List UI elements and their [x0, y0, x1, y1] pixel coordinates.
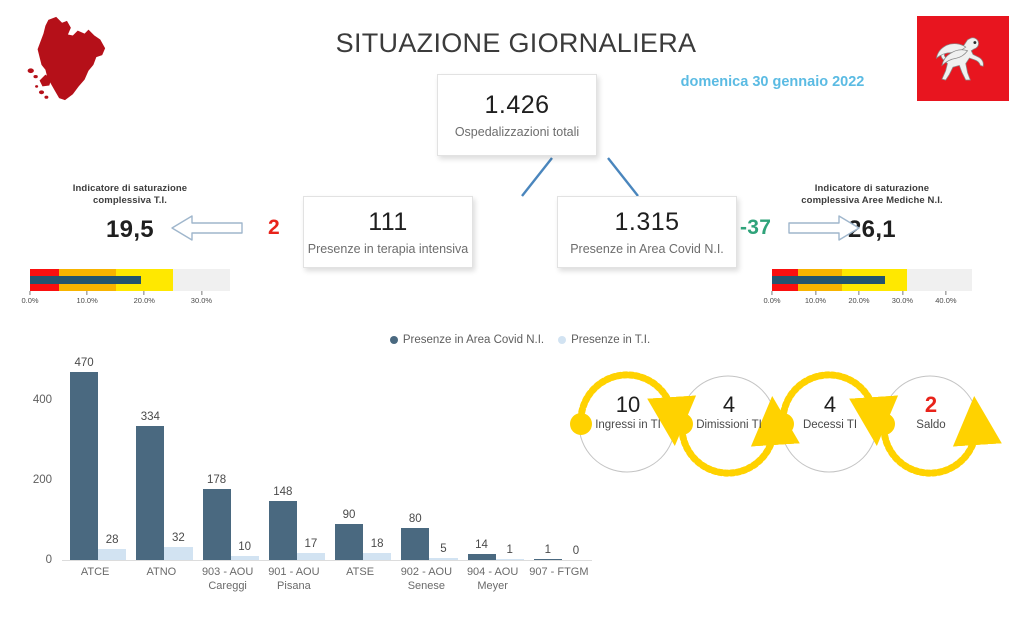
legend-label: Presenze in Area Covid N.I. — [403, 334, 544, 346]
chart-x-axis-line — [62, 560, 592, 561]
bar-group-4[interactable]: 9018 — [335, 524, 391, 560]
gauge-tick-label: 0.0% — [21, 296, 38, 305]
bar-6-series-1[interactable]: 1 — [496, 559, 524, 561]
bar-value-label: 0 — [573, 545, 579, 557]
chart-legend: Presenze in Area Covid N.I.Presenze in T… — [340, 334, 700, 346]
gauge-icu-bands — [30, 269, 230, 291]
bar-value-label: 470 — [74, 357, 93, 369]
legend-label: Presenze in T.I. — [571, 334, 650, 346]
bar-value-label: 18 — [371, 538, 384, 550]
y-axis-tick-2: 400 — [33, 394, 52, 406]
bar-group-5[interactable]: 805 — [401, 528, 457, 560]
gauge-tick-mark — [858, 291, 859, 295]
x-axis-label-7: 907 - FTGM — [526, 566, 592, 580]
kpi-icu-label: Presenze in terapia intensiva — [308, 242, 469, 256]
bar-4-series-0[interactable]: 90 — [335, 524, 363, 560]
bar-2-series-0[interactable]: 178 — [203, 489, 231, 560]
gauge-tick-0: 0.0% — [21, 291, 38, 305]
gauge-tick-label: 30.0% — [892, 296, 913, 305]
flow-step-0-value: 10 — [576, 392, 680, 418]
legend-swatch-icon — [390, 336, 398, 344]
kpi-card-ward-presences[interactable]: 1.315 Presenze in Area Covid N.I. — [557, 196, 737, 268]
gauge-tick-label: 10.0% — [805, 296, 826, 305]
bar-group-3[interactable]: 14817 — [269, 501, 325, 560]
kpi-ward-value: 1.315 — [614, 208, 679, 237]
bar-1-series-1[interactable]: 32 — [164, 547, 192, 560]
gauge-tick-1: 10.0% — [77, 291, 98, 305]
x-axis-label-2: 903 - AOUCareggi — [195, 566, 261, 594]
gauge-tick-mark — [902, 291, 903, 295]
bar-value-label: 178 — [207, 474, 226, 486]
gauge-tick-4: 40.0% — [935, 291, 956, 305]
gauge-tick-label: 40.0% — [935, 296, 956, 305]
gauge-tick-mark — [945, 291, 946, 295]
flow-step-1: 4 Dimissioni TI — [677, 392, 781, 431]
tuscany-pegasus-emblem-icon — [917, 16, 1009, 101]
flow-step-3-label: Saldo — [879, 419, 983, 431]
bar-group-6[interactable]: 141 — [468, 554, 524, 560]
bar-group-0[interactable]: 47028 — [70, 372, 126, 560]
gauge-ward-ticks: 0.0%10.0%20.0%30.0%40.0% — [772, 291, 972, 307]
delta-indicator-ward: -37 — [740, 208, 870, 248]
bar-value-label: 32 — [172, 532, 185, 544]
bar-value-label: 80 — [409, 513, 422, 525]
bar-5-series-1[interactable]: 5 — [429, 558, 457, 560]
bar-5-series-0[interactable]: 80 — [401, 528, 429, 560]
arrow-left-icon — [168, 212, 246, 244]
delta-indicator-icu: 2 — [168, 208, 298, 248]
bar-value-label: 1 — [545, 544, 551, 556]
bar-value-label: 5 — [440, 543, 446, 555]
gauge-tick-mark — [201, 291, 202, 295]
flow-step-3-value: 2 — [879, 392, 983, 418]
gauge-tick-3: 30.0% — [191, 291, 212, 305]
gauge-ward-pointer — [772, 276, 885, 284]
bar-0-series-0[interactable]: 470 — [70, 372, 98, 560]
kpi-total-label: Ospedalizzazioni totali — [455, 125, 579, 139]
flow-step-2-value: 4 — [778, 392, 882, 418]
bar-value-label: 1 — [506, 544, 512, 556]
delta-icu-value: 2 — [268, 216, 280, 240]
gauge-tick-mark — [29, 291, 30, 295]
gauge-tick-mark — [771, 291, 772, 295]
gauge-tick-1: 10.0% — [805, 291, 826, 305]
y-axis-tick-0: 0 — [46, 554, 52, 566]
bar-value-label: 334 — [141, 411, 160, 423]
arrow-right-icon — [785, 212, 863, 244]
x-axis-label-4: ATSE — [327, 566, 393, 580]
bar-chart: 0200400 47028ATCE33432ATNO17810903 - AOU… — [14, 360, 594, 610]
kpi-card-total-hospitalizations[interactable]: 1.426 Ospedalizzazioni totali — [437, 74, 597, 156]
chart-plot-area: 47028ATCE33432ATNO17810903 - AOUCareggi1… — [62, 360, 592, 560]
page-title: SITUAZIONE GIORNALIERA — [300, 28, 732, 59]
bar-group-1[interactable]: 33432 — [136, 426, 192, 560]
gauge-tick-label: 20.0% — [134, 296, 155, 305]
x-axis-label-1: ATNO — [128, 566, 194, 580]
flow-step-2: 4 Decessi TI — [778, 392, 882, 431]
bar-7-series-0[interactable]: 1 — [534, 559, 562, 561]
kpi-total-value: 1.426 — [484, 91, 549, 120]
gauge-icu-ticks: 0.0%10.0%20.0%30.0% — [30, 291, 230, 307]
gauge-tick-2: 20.0% — [848, 291, 869, 305]
dashboard-root: SITUAZIONE GIORNALIERA domenica 30 genna… — [0, 0, 1032, 634]
bar-value-label: 17 — [305, 538, 318, 550]
bar-value-label: 90 — [343, 509, 356, 521]
bar-3-series-0[interactable]: 148 — [269, 501, 297, 560]
gauge-icu-pointer — [30, 276, 141, 284]
x-axis-label-6: 904 - AOU Meyer — [460, 566, 526, 594]
gauge-ward-bar: 0.0%10.0%20.0%30.0%40.0% — [760, 269, 984, 309]
kpi-ward-label: Presenze in Area Covid N.I. — [570, 242, 724, 256]
bar-2-series-1[interactable]: 10 — [231, 556, 259, 560]
gauge-band-0 — [907, 269, 972, 291]
bar-value-label: 148 — [273, 486, 292, 498]
gauge-icu-caption: Indicatore di saturazione complessiva T.… — [18, 183, 242, 207]
gauge-tick-label: 30.0% — [191, 296, 212, 305]
gauge-tick-mark — [144, 291, 145, 295]
delta-ward-value: -37 — [740, 216, 771, 240]
tuscany-region-map-icon — [16, 14, 114, 106]
gauge-tick-mark — [815, 291, 816, 295]
x-axis-label-5: 902 - AOU Senese — [393, 566, 459, 594]
bar-4-series-1[interactable]: 18 — [363, 553, 391, 560]
y-axis-tick-1: 200 — [33, 474, 52, 486]
bar-1-series-0[interactable]: 334 — [136, 426, 164, 560]
chart-y-axis: 0200400 — [14, 360, 58, 560]
x-axis-label-0: ATCE — [62, 566, 128, 580]
flow-step-2-label: Decessi TI — [778, 419, 882, 431]
bar-value-label: 14 — [475, 539, 488, 551]
gauge-ward-bands — [772, 269, 972, 291]
kpi-card-icu-presences[interactable]: 111 Presenze in terapia intensiva — [303, 196, 473, 268]
gauge-icu-bar: 0.0%10.0%20.0%30.0% — [18, 269, 242, 309]
legend-swatch-icon — [558, 336, 566, 344]
bar-value-label: 28 — [106, 534, 119, 546]
gauge-ward-caption: Indicatore di saturazione complessiva Ar… — [760, 183, 984, 207]
x-axis-label-3: 901 - AOU Pisana — [261, 566, 327, 594]
legend-item-1[interactable]: Presenze in T.I. — [558, 334, 650, 346]
icu-flow-diagram: 10 Ingressi in TI 4 Dimissioni TI 4 Dece… — [565, 358, 1020, 490]
report-date: domenica 30 gennaio 2022 — [660, 74, 885, 90]
flow-step-1-label: Dimissioni TI — [677, 419, 781, 431]
flow-step-1-value: 4 — [677, 392, 781, 418]
kpi-icu-value: 111 — [368, 208, 408, 237]
flow-step-3: 2 Saldo — [879, 392, 983, 431]
bar-group-2[interactable]: 17810 — [203, 489, 259, 560]
gauge-tick-mark — [87, 291, 88, 295]
flow-step-0-label: Ingressi in TI — [576, 419, 680, 431]
gauge-tick-label: 20.0% — [848, 296, 869, 305]
bar-0-series-1[interactable]: 28 — [98, 549, 126, 560]
bar-value-label: 10 — [238, 541, 251, 553]
bar-6-series-0[interactable]: 14 — [468, 554, 496, 560]
flow-step-0: 10 Ingressi in TI — [576, 392, 680, 431]
gauge-band-0 — [173, 269, 230, 291]
bar-3-series-1[interactable]: 17 — [297, 553, 325, 560]
gauge-tick-label: 0.0% — [763, 296, 780, 305]
gauge-tick-0: 0.0% — [763, 291, 780, 305]
gauge-tick-2: 20.0% — [134, 291, 155, 305]
bar-group-7[interactable]: 10 — [534, 559, 590, 561]
gauge-tick-label: 10.0% — [77, 296, 98, 305]
legend-item-0[interactable]: Presenze in Area Covid N.I. — [390, 334, 544, 346]
gauge-tick-3: 30.0% — [892, 291, 913, 305]
